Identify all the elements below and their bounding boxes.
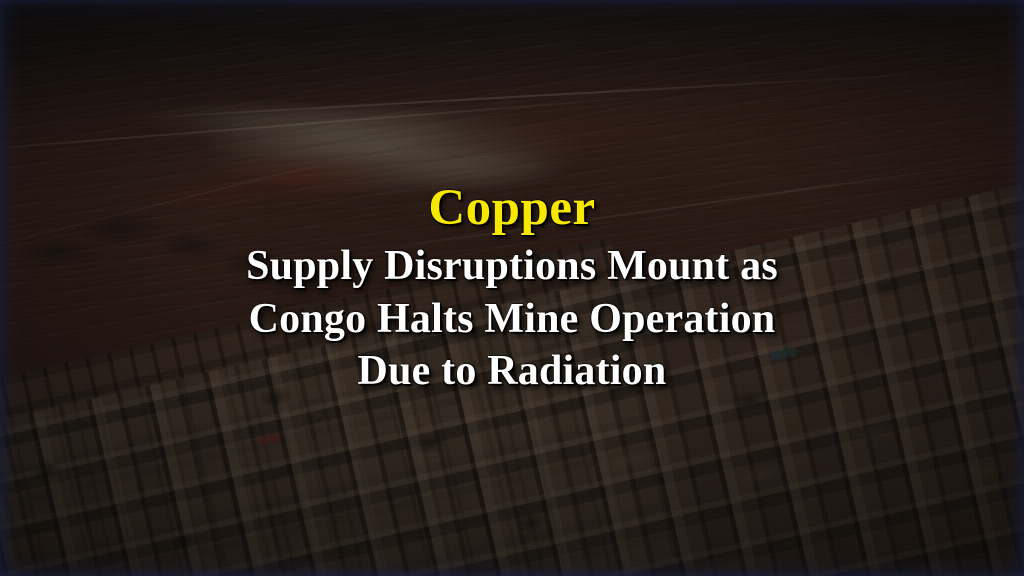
headline-line-1: Supply Disruptions Mount as: [246, 240, 778, 293]
commodity-kicker: Copper: [428, 183, 595, 234]
headline-line-3: Due to Radiation: [246, 345, 778, 398]
news-banner: Copper Supply Disruptions Mount as Congo…: [0, 0, 1024, 576]
headline: Supply Disruptions Mount as Congo Halts …: [246, 240, 778, 398]
title-overlay: Copper Supply Disruptions Mount as Congo…: [0, 0, 1024, 576]
headline-line-2: Congo Halts Mine Operation: [246, 293, 778, 346]
